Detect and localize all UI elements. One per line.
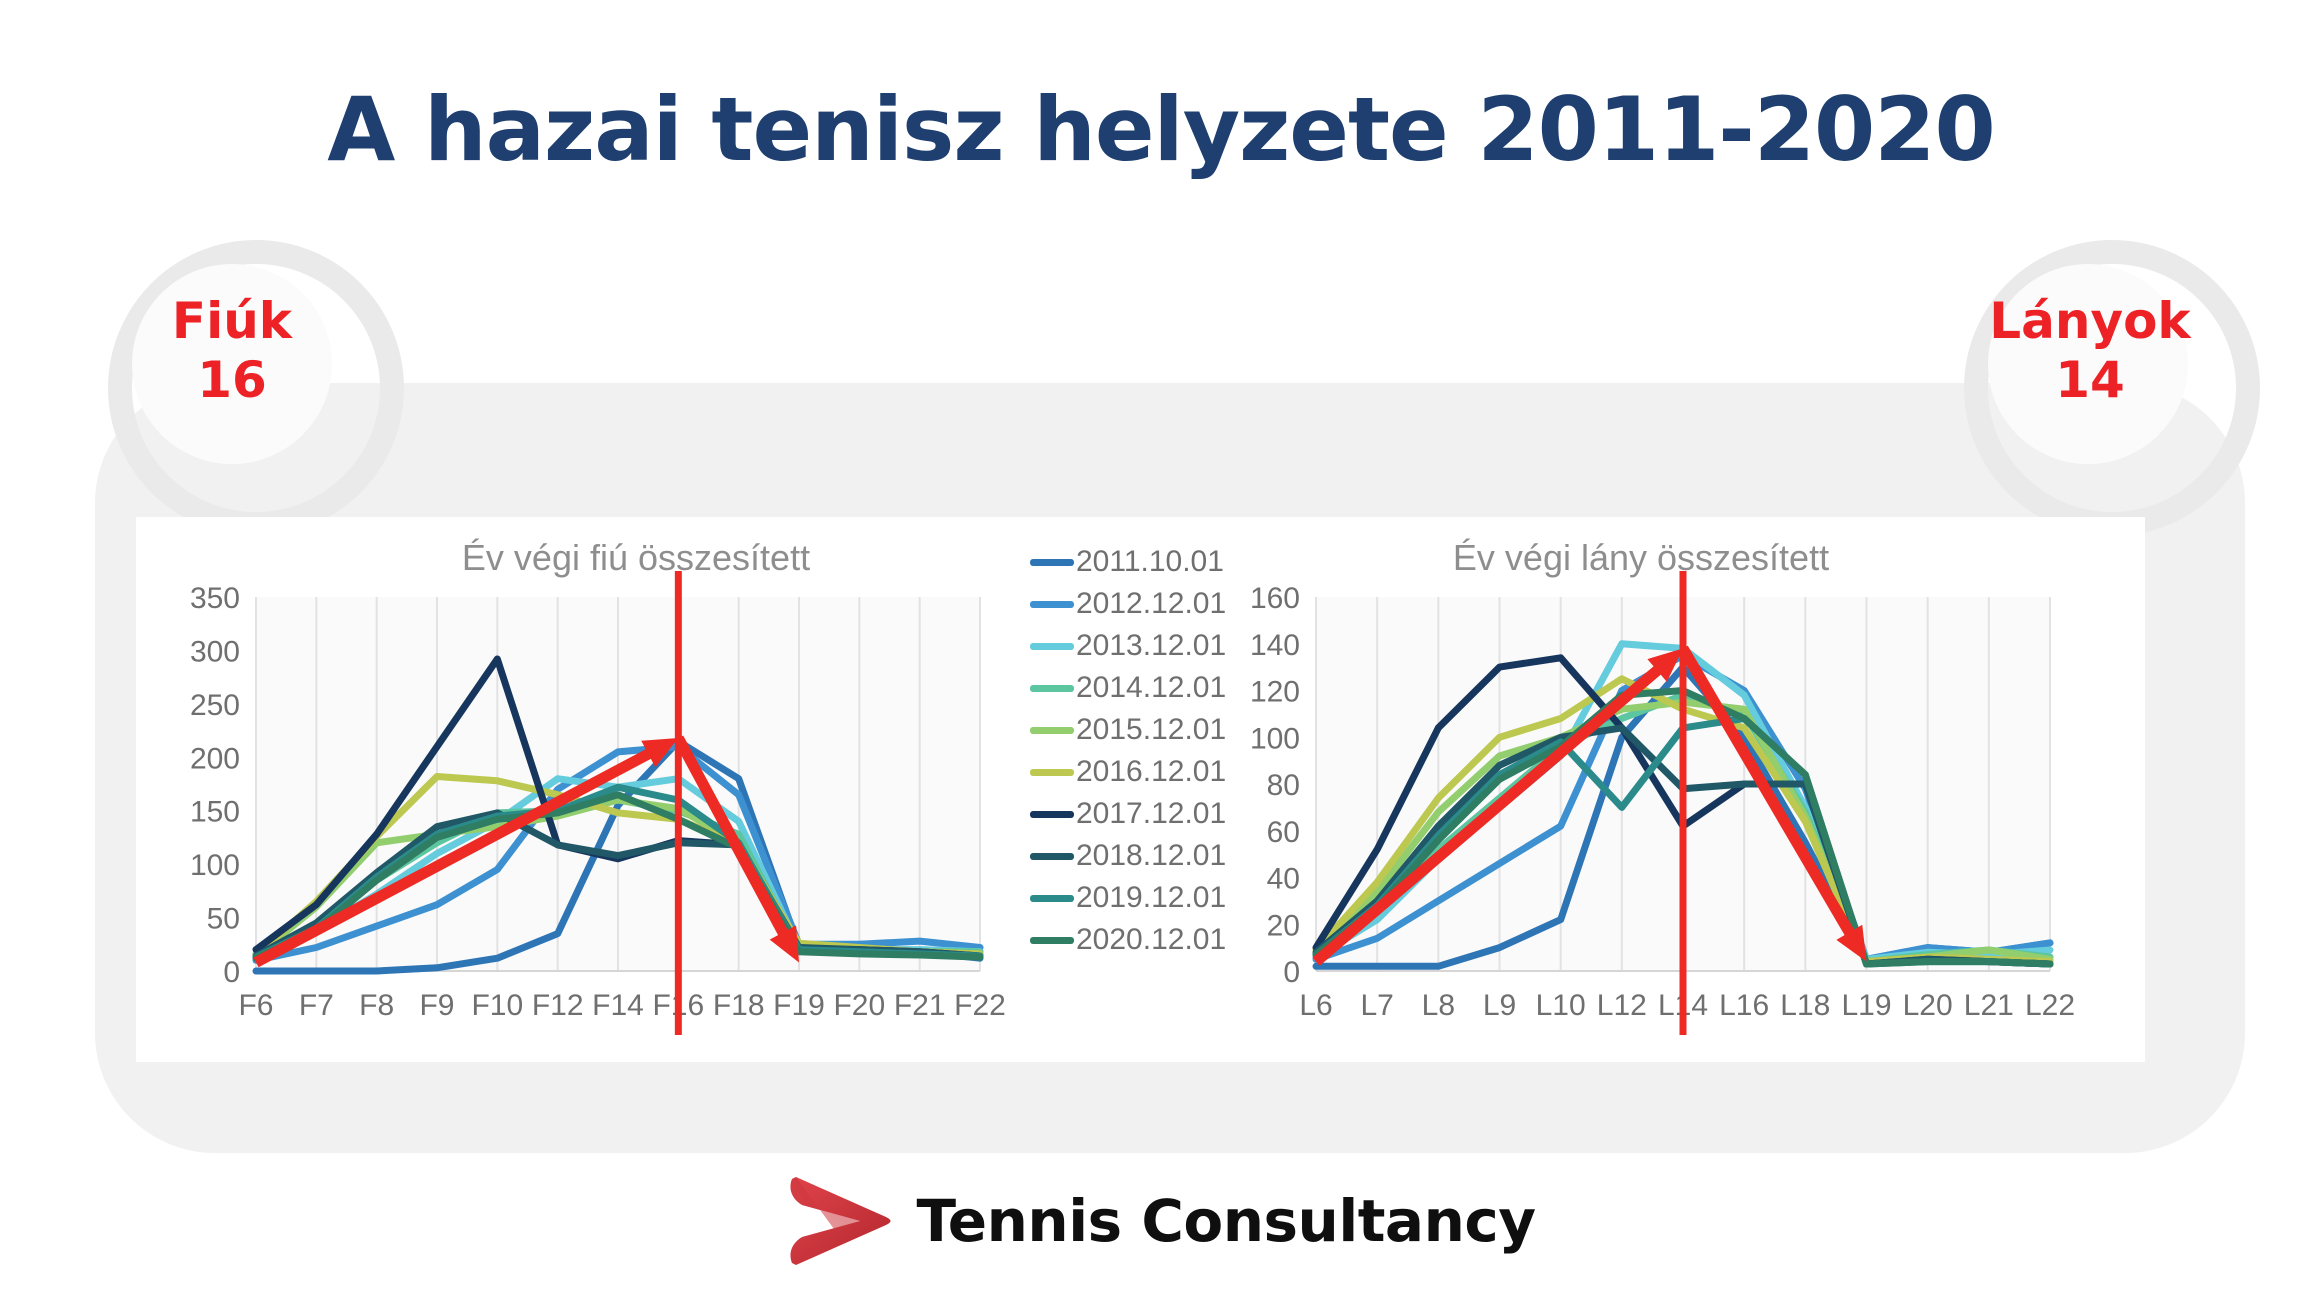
legend-item[interactable]: 2017.12.01 [1030, 793, 1200, 835]
tennis-consultancy-mark-icon [786, 1175, 894, 1267]
chart-boys-plot: 050100150200250300350F6F7F8F9F10F12F14F1… [136, 571, 1016, 1041]
legend-swatch-icon [1030, 685, 1074, 692]
x-axis-tick-label: L20 [1903, 989, 1953, 1022]
y-axis-tick-label: 160 [1250, 582, 1300, 615]
x-axis-tick-label: F18 [713, 989, 765, 1022]
legend-swatch-icon [1030, 811, 1074, 818]
footer-logo: Tennis Consultancy [0, 1175, 2322, 1267]
chart-girls: Év végi lány összesített 020406080100120… [1196, 517, 2086, 1062]
legend-item[interactable]: 2015.12.01 [1030, 709, 1200, 751]
x-axis-tick-label: F10 [471, 989, 523, 1022]
stat-boys-value: 16 [86, 351, 378, 410]
y-axis-tick-label: 150 [190, 796, 240, 829]
legend-swatch-icon [1030, 601, 1074, 608]
legend-item[interactable]: 2016.12.01 [1030, 751, 1200, 793]
y-axis-tick-label: 140 [1250, 629, 1300, 662]
chart-legend: 2011.10.012012.12.012013.12.012014.12.01… [1030, 541, 1200, 961]
x-axis-tick-label: L10 [1536, 989, 1586, 1022]
chart-girls-plot: 020406080100120140160L6L7L8L9L10L12L14L1… [1196, 571, 2086, 1041]
stat-girls: Lányok 14 [1940, 292, 2240, 410]
legend-item[interactable]: 2013.12.01 [1030, 625, 1200, 667]
x-axis-tick-label: L22 [2025, 989, 2075, 1022]
x-axis-tick-label: L16 [1719, 989, 1769, 1022]
y-axis-tick-label: 350 [190, 582, 240, 615]
y-axis-tick-label: 250 [190, 689, 240, 722]
stat-boys: Fiúk 16 [86, 292, 378, 410]
legend-swatch-icon [1030, 559, 1074, 566]
y-axis-tick-label: 20 [1267, 909, 1300, 942]
x-axis-tick-label: F9 [419, 989, 454, 1022]
legend-item[interactable]: 2014.12.01 [1030, 667, 1200, 709]
stat-girls-value: 14 [1940, 351, 2240, 410]
chart-boys: Év végi fiú összesített 0501001502002503… [136, 517, 1016, 1062]
legend-swatch-icon [1030, 853, 1074, 860]
x-axis-tick-label: L18 [1780, 989, 1830, 1022]
x-axis-tick-label: L6 [1299, 989, 1332, 1022]
legend-item[interactable]: 2012.12.01 [1030, 583, 1200, 625]
y-axis-tick-label: 120 [1250, 676, 1300, 709]
logo-text: Tennis Consultancy [916, 1187, 1535, 1255]
x-axis-tick-label: F12 [532, 989, 584, 1022]
x-axis-tick-label: F7 [299, 989, 334, 1022]
x-axis-tick-label: F20 [833, 989, 885, 1022]
legend-item[interactable]: 2011.10.01 [1030, 541, 1200, 583]
x-axis-tick-label: L19 [1841, 989, 1891, 1022]
chart-card: Év végi fiú összesített 0501001502002503… [136, 517, 2145, 1062]
legend-item[interactable]: 2018.12.01 [1030, 835, 1200, 877]
page-title: A hazai tenisz helyzete 2011-2020 [0, 78, 2322, 181]
x-axis-tick-label: F22 [954, 989, 1006, 1022]
y-axis-tick-label: 200 [190, 742, 240, 775]
x-axis-tick-label: L21 [1964, 989, 2014, 1022]
y-axis-tick-label: 80 [1267, 769, 1300, 802]
x-axis-tick-label: F6 [238, 989, 273, 1022]
legend-swatch-icon [1030, 727, 1074, 734]
stat-girls-label: Lányok [1940, 292, 2240, 351]
stat-boys-label: Fiúk [86, 292, 378, 351]
y-axis-tick-label: 40 [1267, 863, 1300, 896]
y-axis-tick-label: 0 [223, 956, 240, 989]
y-axis-tick-label: 100 [1250, 722, 1300, 755]
legend-item[interactable]: 2019.12.01 [1030, 877, 1200, 919]
legend-swatch-icon [1030, 769, 1074, 776]
y-axis-tick-label: 300 [190, 635, 240, 668]
legend-swatch-icon [1030, 937, 1074, 944]
y-axis-tick-label: 0 [1283, 956, 1300, 989]
x-axis-tick-label: L9 [1483, 989, 1516, 1022]
legend-swatch-icon [1030, 895, 1074, 902]
x-axis-tick-label: F8 [359, 989, 394, 1022]
y-axis-tick-label: 100 [190, 849, 240, 882]
x-axis-tick-label: F21 [894, 989, 946, 1022]
x-axis-tick-label: L12 [1597, 989, 1647, 1022]
legend-swatch-icon [1030, 643, 1074, 650]
y-axis-tick-label: 50 [207, 903, 240, 936]
y-axis-tick-label: 60 [1267, 816, 1300, 849]
x-axis-tick-label: L7 [1360, 989, 1393, 1022]
x-axis-tick-label: F19 [773, 989, 825, 1022]
legend-item[interactable]: 2020.12.01 [1030, 919, 1200, 961]
x-axis-tick-label: F14 [592, 989, 644, 1022]
x-axis-tick-label: L8 [1422, 989, 1455, 1022]
